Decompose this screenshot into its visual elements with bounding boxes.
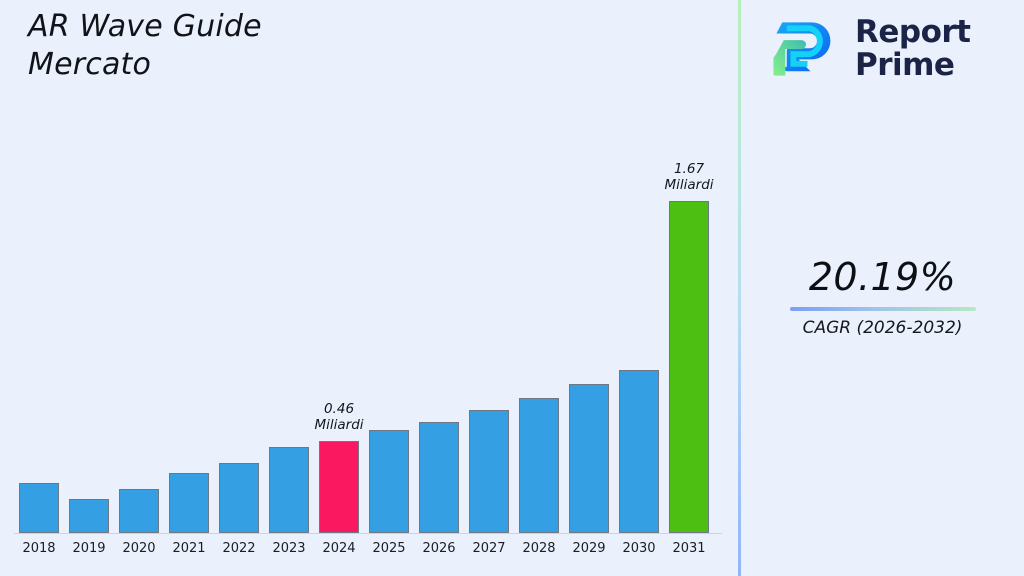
bar-2028[interactable] [519, 398, 559, 533]
x-tick-2022: 2022 [211, 541, 267, 556]
x-tick-2023: 2023 [261, 541, 317, 556]
bar-value-label-2024: 0.46 Miliardi [289, 401, 389, 434]
cagr-value: 20.19% [741, 255, 1024, 299]
bar-2030[interactable] [619, 370, 659, 533]
report-prime-logo-icon [769, 12, 843, 86]
x-tick-2027: 2027 [461, 541, 517, 556]
cagr-divider-rule [790, 307, 976, 311]
x-tick-2030: 2030 [611, 541, 667, 556]
bar-2027[interactable] [469, 410, 509, 533]
bar-2031[interactable] [669, 201, 709, 533]
x-axis-line [14, 533, 722, 534]
brand-name: Report Prime [855, 16, 971, 81]
bar-2020[interactable] [119, 489, 159, 533]
x-tick-2025: 2025 [361, 541, 417, 556]
bar-value-label-2031: 1.67 Miliardi [639, 161, 739, 194]
x-tick-2019: 2019 [61, 541, 117, 556]
brand-panel: Report Prime 20.19% CAGR (2026-2032) [741, 0, 1024, 576]
bar-2024[interactable] [319, 441, 359, 533]
x-tick-2028: 2028 [511, 541, 567, 556]
chart-panel: AR Wave Guide Mercato 201820192020202120… [0, 0, 738, 576]
bar-2022[interactable] [219, 463, 259, 533]
bar-2018[interactable] [19, 483, 59, 533]
x-tick-2020: 2020 [111, 541, 167, 556]
bar-2019[interactable] [69, 499, 109, 533]
x-tick-2026: 2026 [411, 541, 467, 556]
cagr-caption: CAGR (2026-2032) [741, 318, 1024, 338]
brand-logo: Report Prime [769, 12, 971, 86]
infographic-root: AR Wave Guide Mercato 201820192020202120… [0, 0, 1024, 576]
x-tick-2021: 2021 [161, 541, 217, 556]
bar-2029[interactable] [569, 384, 609, 533]
x-tick-2018: 2018 [11, 541, 67, 556]
bar-2023[interactable] [269, 447, 309, 533]
bar-2021[interactable] [169, 473, 209, 533]
bar-2025[interactable] [369, 430, 409, 533]
plot-area: 20182019202020212022202320240.46 Miliard… [0, 0, 738, 576]
x-tick-2024: 2024 [311, 541, 367, 556]
x-tick-2029: 2029 [561, 541, 617, 556]
cagr-block: 20.19% CAGR (2026-2032) [741, 255, 1024, 338]
bar-2026[interactable] [419, 422, 459, 533]
x-tick-2031: 2031 [661, 541, 717, 556]
